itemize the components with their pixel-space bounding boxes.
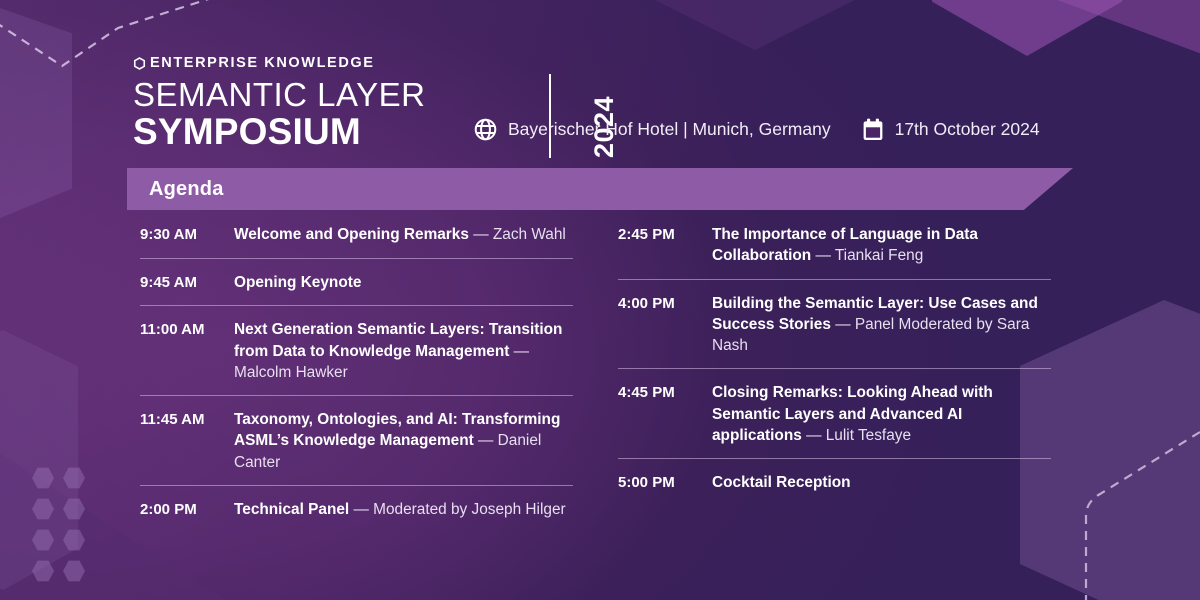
- agenda-item-separator: [140, 305, 573, 306]
- agenda-item-time: 9:45 AM: [140, 272, 220, 294]
- venue-text: Bayerischer Hof Hotel | Munich, Germany: [508, 119, 831, 140]
- agenda-item-time: 5:00 PM: [618, 472, 698, 494]
- agenda-item: 2:00 PMTechnical Panel — Moderated by Jo…: [140, 499, 573, 521]
- agenda-item-row: 11:45 AMTaxonomy, Ontologies, and AI: Tr…: [140, 409, 573, 473]
- agenda-column-left: 9:30 AMWelcome and Opening Remarks — Zac…: [140, 224, 573, 521]
- agenda-item-row: 5:00 PMCocktail Reception: [618, 472, 1051, 494]
- agenda-item-separator: [140, 258, 573, 259]
- agenda-item-description: Technical Panel — Moderated by Joseph Hi…: [234, 499, 573, 520]
- agenda-item-description: Closing Remarks: Looking Ahead with Sema…: [712, 382, 1051, 446]
- agenda-item-separator: [140, 485, 573, 486]
- agenda-item-time: 2:45 PM: [618, 224, 698, 246]
- agenda-item: 9:45 AMOpening Keynote: [140, 272, 573, 307]
- agenda-column-right: 2:45 PMThe Importance of Language in Dat…: [618, 224, 1051, 521]
- agenda-heading: Agenda: [149, 178, 224, 201]
- poster-content: ENTERPRISE KNOWLEDGE SEMANTIC LAYER SYMP…: [0, 0, 1200, 600]
- brand-eyebrow: ENTERPRISE KNOWLEDGE: [133, 56, 425, 71]
- agenda-item-separator: [140, 395, 573, 396]
- agenda-item: 2:45 PMThe Importance of Language in Dat…: [618, 224, 1051, 280]
- globe-icon: [474, 118, 497, 141]
- agenda-item: 11:00 AMNext Generation Semantic Layers:…: [140, 319, 573, 396]
- agenda-item-time: 11:00 AM: [140, 319, 220, 341]
- agenda-columns: 9:30 AMWelcome and Opening Remarks — Zac…: [140, 224, 1070, 521]
- agenda-item-description: Taxonomy, Ontologies, and AI: Transformi…: [234, 409, 573, 473]
- agenda-item-description: Welcome and Opening Remarks — Zach Wahl: [234, 224, 573, 245]
- agenda-item-separator: [618, 279, 1051, 280]
- agenda-item-description: The Importance of Language in Data Colla…: [712, 224, 1051, 267]
- agenda-item-description: Cocktail Reception: [712, 472, 1051, 493]
- agenda-banner: Agenda: [127, 168, 1073, 210]
- agenda-item-row: 9:30 AMWelcome and Opening Remarks — Zac…: [140, 224, 573, 246]
- agenda-item-description: Opening Keynote: [234, 272, 573, 293]
- agenda-item-description: Building the Semantic Layer: Use Cases a…: [712, 293, 1051, 357]
- date-text: 17th October 2024: [895, 119, 1040, 140]
- agenda-item-title: Opening Keynote: [234, 274, 361, 291]
- agenda-item-speaker: — Moderated by Joseph Hilger: [349, 501, 565, 518]
- agenda-item-separator: [618, 368, 1051, 369]
- brand-lockup: ENTERPRISE KNOWLEDGE SEMANTIC LAYER SYMP…: [133, 56, 425, 152]
- agenda-item: 4:00 PMBuilding the Semantic Layer: Use …: [618, 293, 1051, 370]
- calendar-icon: [862, 118, 884, 141]
- agenda-item-time: 4:00 PM: [618, 293, 698, 315]
- agenda-item: 11:45 AMTaxonomy, Ontologies, and AI: Tr…: [140, 409, 573, 486]
- agenda-item-row: 2:45 PMThe Importance of Language in Dat…: [618, 224, 1051, 267]
- agenda-item-row: 9:45 AMOpening Keynote: [140, 272, 573, 294]
- agenda-item-time: 4:45 PM: [618, 382, 698, 404]
- agenda-item-title: Cocktail Reception: [712, 474, 851, 491]
- agenda-item: 9:30 AMWelcome and Opening Remarks — Zac…: [140, 224, 573, 259]
- agenda-item-separator: [618, 458, 1051, 459]
- agenda-item: 5:00 PMCocktail Reception: [618, 472, 1051, 494]
- agenda-item: 4:45 PMClosing Remarks: Looking Ahead wi…: [618, 382, 1051, 459]
- agenda-item-speaker: — Lulit Tesfaye: [802, 427, 911, 444]
- agenda-item-title: Welcome and Opening Remarks: [234, 226, 469, 243]
- agenda-item-time: 11:45 AM: [140, 409, 220, 431]
- agenda-item-title: Technical Panel: [234, 501, 349, 518]
- agenda-item-time: 9:30 AM: [140, 224, 220, 246]
- brand-eyebrow-text: ENTERPRISE KNOWLEDGE: [150, 56, 375, 71]
- agenda-item-description: Next Generation Semantic Layers: Transit…: [234, 319, 573, 383]
- agenda-item-row: 4:45 PMClosing Remarks: Looking Ahead wi…: [618, 382, 1051, 446]
- agenda-item-row: 2:00 PMTechnical Panel — Moderated by Jo…: [140, 499, 573, 521]
- event-meta: Bayerischer Hof Hotel | Munich, Germany …: [474, 118, 1040, 141]
- symposium-agenda-poster: ENTERPRISE KNOWLEDGE SEMANTIC LAYER SYMP…: [0, 0, 1200, 600]
- agenda-item-time: 2:00 PM: [140, 499, 220, 521]
- agenda-item-speaker: — Zach Wahl: [469, 226, 566, 243]
- agenda-item-row: 11:00 AMNext Generation Semantic Layers:…: [140, 319, 573, 383]
- brand-title-line2: SYMPOSIUM: [133, 113, 425, 152]
- brand-year: 2024: [587, 74, 621, 158]
- brand-title-line1: SEMANTIC LAYER: [133, 78, 425, 112]
- agenda-item-row: 4:00 PMBuilding the Semantic Layer: Use …: [618, 293, 1051, 357]
- brand-divider-rule: [549, 74, 551, 158]
- agenda-item-speaker: — Tiankai Feng: [811, 247, 923, 264]
- hexagon-outline-icon: [133, 57, 146, 70]
